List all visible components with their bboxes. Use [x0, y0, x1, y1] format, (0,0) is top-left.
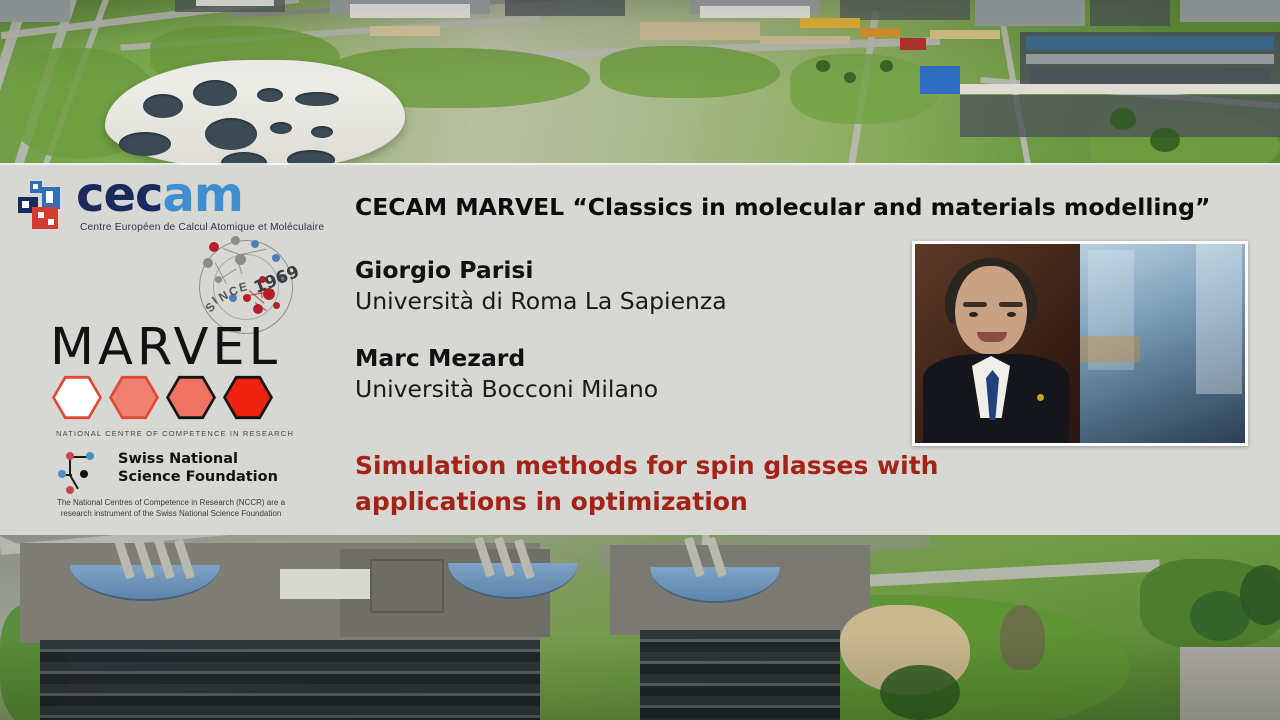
presentation-slide: cecam Centre Européen de Calcul Atomique… — [0, 0, 1280, 720]
slide-title: CECAM MARVEL “Classics in molecular and … — [355, 193, 1235, 222]
marvel-hexagon-1 — [52, 375, 102, 420]
logo-column: cecam Centre Européen de Calcul Atomique… — [0, 163, 330, 535]
speaker-1-affiliation: Università di Roma La Sapienza — [355, 286, 915, 318]
speaker-1: Giorgio Parisi Università di Roma La Sap… — [355, 255, 915, 317]
background-aerial-top — [0, 0, 1280, 165]
marvel-hexagon-3 — [166, 375, 216, 420]
speaker-2: Marc Mezard Università Bocconi Milano — [355, 343, 915, 405]
snsf-name: Swiss National Science Foundation — [118, 451, 278, 486]
snsf-note: The National Centres of Competence in Re… — [52, 498, 290, 520]
marvel-wordmark: MARVEL — [50, 318, 281, 377]
marvel-tagline: NATIONAL CENTRE OF COMPETENCE IN RESEARC… — [56, 429, 294, 438]
portrait-marc-mezard — [1080, 244, 1245, 443]
speaker-2-name: Marc Mezard — [355, 343, 915, 374]
marvel-hexagons — [52, 375, 282, 425]
snsf-name-line1: Swiss National — [118, 451, 278, 469]
marvel-hexagon-2 — [109, 375, 159, 420]
speaker-portraits-photo — [912, 241, 1248, 446]
cecam-wordmark-part1: cec — [76, 167, 162, 223]
speaker-2-affiliation: Università Bocconi Milano — [355, 374, 915, 406]
cecam-logo: cecam Centre Européen de Calcul Atomique… — [18, 177, 310, 239]
snsf-mark-icon — [58, 450, 110, 494]
background-aerial-bottom — [0, 535, 1280, 720]
cecam-wordmark: cecam — [76, 171, 243, 219]
speaker-1-name: Giorgio Parisi — [355, 255, 915, 286]
snsf-logo: Swiss National Science Foundation The Na… — [50, 448, 290, 528]
portrait-giorgio-parisi — [915, 244, 1080, 443]
marvel-hexagon-4 — [223, 375, 273, 420]
talk-title: Simulation methods for spin glasses with… — [355, 448, 1115, 521]
cecam-mark-icon — [18, 181, 70, 229]
cecam-wordmark-part2: am — [162, 167, 242, 223]
snsf-name-line2: Science Foundation — [118, 469, 278, 487]
